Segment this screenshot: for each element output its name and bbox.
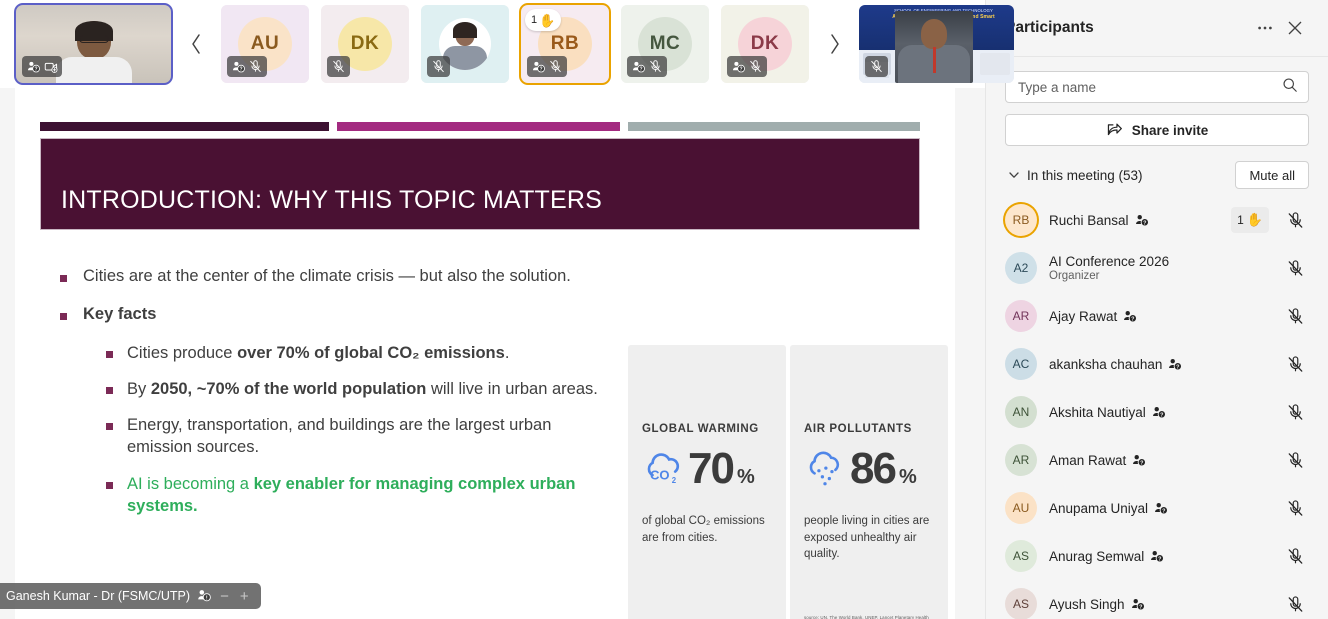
participant-name-text: Akshita Nautiyal bbox=[1049, 405, 1146, 420]
mute-all-button[interactable]: Mute all bbox=[1235, 161, 1309, 189]
bullet-marker-icon bbox=[60, 313, 67, 320]
people-badge-icon: ? bbox=[1123, 309, 1137, 323]
participant-avatar: AR bbox=[1005, 444, 1037, 476]
tile-status-badges: ? bbox=[22, 56, 62, 77]
participant-name-text: akanksha chauhan bbox=[1049, 357, 1162, 372]
svg-text:?: ? bbox=[1176, 364, 1179, 370]
participant-avatar: RB bbox=[1005, 204, 1037, 236]
share-invite-button[interactable]: Share invite bbox=[1005, 114, 1309, 146]
participant-row[interactable]: ARAman Rawat? bbox=[1005, 436, 1309, 484]
rule-dark bbox=[40, 122, 329, 131]
slide-bullets: Cities are at the center of the climate … bbox=[60, 266, 620, 531]
participant-filmstrip: ?AU?DKRB1✋?MC?DK?SCHOOL OF ENGINEERING A… bbox=[0, 0, 985, 88]
sub-bullet-item: By 2050, ~70% of the world population wi… bbox=[106, 378, 620, 400]
sub-bullet-text: By 2050, ~70% of the world population wi… bbox=[127, 378, 598, 400]
participant-name-text: Anurag Semwal bbox=[1049, 549, 1144, 564]
participant-name-text: AI Conference 2026 bbox=[1049, 254, 1169, 269]
people-badge-icon: ? bbox=[1152, 405, 1166, 419]
mic-off-icon[interactable] bbox=[1281, 404, 1309, 421]
sub-bullet-post: . bbox=[505, 344, 510, 362]
svg-text:?: ? bbox=[1158, 556, 1161, 562]
participant-row[interactable]: ARAjay Rawat? bbox=[1005, 292, 1309, 340]
participant-row[interactable]: RBRuchi Bansal?1✋ bbox=[1005, 196, 1309, 244]
filmstrip-next-arrow[interactable] bbox=[821, 5, 847, 83]
self-name-pill: Ganesh Kumar - Dr (FSMC/UTP) ! − + bbox=[0, 583, 261, 609]
people-badge-icon: ? bbox=[232, 60, 245, 73]
participant-avatar: AC bbox=[1005, 348, 1037, 380]
participants-panel: Participants bbox=[985, 0, 1328, 619]
panel-title: Participants bbox=[1005, 19, 1250, 37]
participant-avatar: AR bbox=[1005, 300, 1037, 332]
participant-name: Ruchi Bansal? bbox=[1049, 213, 1219, 228]
raised-hand-icon: ✋ bbox=[1247, 212, 1263, 228]
participant-name-text: Anupama Uniyal bbox=[1049, 501, 1148, 516]
mic-off-icon[interactable] bbox=[1281, 500, 1309, 517]
people-badge-icon: ? bbox=[1168, 357, 1182, 371]
participant-row[interactable]: ACakanksha chauhan? bbox=[1005, 340, 1309, 388]
cloud-co2-icon: CO 2 bbox=[642, 449, 684, 489]
tile-status-badges: ? bbox=[527, 56, 567, 77]
people-badge-icon: ? bbox=[532, 60, 545, 73]
mic-off-icon[interactable] bbox=[1281, 452, 1309, 469]
raised-hand-icon: ✋ bbox=[539, 14, 555, 27]
participant-row[interactable]: ANAkshita Nautiyal? bbox=[1005, 388, 1309, 436]
participant-avatar: AN bbox=[1005, 396, 1037, 428]
people-badge-icon: ? bbox=[732, 60, 745, 73]
section-label: In this meeting (53) bbox=[1023, 168, 1235, 183]
card-source: source: UN, The World Bank, UNEP, Lancet… bbox=[804, 615, 940, 619]
sub-bullet-item-highlight: AI is becoming a key enabler for managin… bbox=[106, 473, 620, 518]
mic-off-icon[interactable] bbox=[1281, 548, 1309, 565]
mic-off-icon[interactable] bbox=[1281, 260, 1309, 277]
raised-hand-count: 1 bbox=[1237, 213, 1244, 227]
sub-bullet-post: will live in urban areas. bbox=[426, 380, 598, 398]
mic-off-icon[interactable] bbox=[249, 60, 262, 73]
rule-gray bbox=[628, 122, 920, 131]
participant-info: AI Conference 2026Organizer bbox=[1049, 254, 1269, 282]
slide-title-bar: INTRODUCTION: WHY THIS TOPIC MATTERS bbox=[40, 138, 920, 230]
participant-name-text: Ayush Singh bbox=[1049, 597, 1125, 612]
mic-off-icon[interactable] bbox=[870, 60, 883, 73]
raised-hand-badge[interactable]: 1✋ bbox=[1231, 207, 1269, 233]
zoom-out-button[interactable]: − bbox=[218, 588, 231, 605]
filmstrip-tile-dk[interactable]: DK bbox=[321, 5, 409, 83]
participant-name-text: Aman Rawat bbox=[1049, 453, 1126, 468]
sub-bullet-item: Energy, transportation, and buildings ar… bbox=[106, 414, 620, 459]
cloud-particles-icon bbox=[804, 449, 846, 489]
svg-text:?: ? bbox=[1139, 604, 1142, 610]
bullet-marker-icon bbox=[60, 275, 67, 282]
participant-row[interactable]: ASAnurag Semwal? bbox=[1005, 532, 1309, 580]
sub-bullet-pre: Energy, transportation, and buildings ar… bbox=[127, 416, 551, 456]
participant-avatar: A2 bbox=[1005, 252, 1037, 284]
filmstrip-tile-rb[interactable]: RB1✋? bbox=[521, 5, 609, 83]
card-number: 86 bbox=[850, 447, 895, 491]
participant-info: akanksha chauhan? bbox=[1049, 357, 1269, 372]
tile-status-badges bbox=[427, 56, 450, 77]
svg-text:2: 2 bbox=[672, 476, 677, 485]
mic-off-icon[interactable] bbox=[549, 60, 562, 73]
people-badge-icon: ? bbox=[632, 60, 645, 73]
participant-name: Ajay Rawat? bbox=[1049, 309, 1269, 324]
sub-bullet-list: Cities produce over 70% of global CO₂ em… bbox=[106, 342, 620, 518]
participants-list: RBRuchi Bansal?1✋A2AI Conference 2026Org… bbox=[1005, 196, 1309, 619]
mic-off-icon[interactable] bbox=[1281, 356, 1309, 373]
participant-info: Akshita Nautiyal? bbox=[1049, 405, 1269, 420]
bullet-item: Key facts bbox=[60, 304, 620, 326]
mic-off-icon[interactable] bbox=[649, 60, 662, 73]
sub-bullet-text: Energy, transportation, and buildings ar… bbox=[127, 414, 620, 459]
meeting-stage: ?AU?DKRB1✋?MC?DK?SCHOOL OF ENGINEERING A… bbox=[0, 0, 985, 619]
participant-info: Aman Rawat? bbox=[1049, 453, 1269, 468]
participant-name: akanksha chauhan? bbox=[1049, 357, 1269, 372]
svg-text:CO: CO bbox=[650, 467, 670, 482]
close-icon[interactable] bbox=[1280, 13, 1310, 43]
filmstrip-tile-video-banner[interactable]: SCHOOL OF ENGINEERING AND TECHNOLOGYAI f… bbox=[859, 5, 1014, 83]
participant-name: Ayush Singh? bbox=[1049, 597, 1269, 612]
people-badge-icon: ! bbox=[197, 588, 211, 605]
mic-off-icon[interactable] bbox=[432, 60, 445, 73]
slide-infographic-cards: GLOBAL WARMING CO 2 70 % of global CO₂ bbox=[628, 345, 948, 619]
mic-off-icon[interactable] bbox=[749, 60, 762, 73]
filmstrip-tile-au[interactable]: AU? bbox=[221, 5, 309, 83]
participant-name-text: Ajay Rawat bbox=[1049, 309, 1117, 324]
search-input[interactable] bbox=[1018, 80, 1282, 95]
teams-meeting-window: ?AU?DKRB1✋?MC?DK?SCHOOL OF ENGINEERING A… bbox=[0, 0, 1328, 619]
people-badge-icon: ? bbox=[27, 60, 40, 73]
participant-row[interactable]: AUAnupama Uniyal? bbox=[1005, 484, 1309, 532]
tile-status-badges: ? bbox=[627, 56, 667, 77]
bullet-marker-icon bbox=[106, 423, 113, 430]
card-caption: GLOBAL WARMING bbox=[642, 423, 772, 435]
infographic-card-air-pollutants: AIR POLLUTANTS bbox=[790, 345, 948, 619]
filmstrip-prev-arrow[interactable] bbox=[183, 5, 209, 83]
panel-body: Share invite In this meeting (53) Mute a… bbox=[986, 57, 1328, 619]
participant-name-text: Ruchi Bansal bbox=[1049, 213, 1129, 228]
participant-name: Anupama Uniyal? bbox=[1049, 501, 1269, 516]
filmstrip-tile-video[interactable]: ? bbox=[16, 5, 171, 83]
filmstrip-tile-photo[interactable] bbox=[421, 5, 509, 83]
card-percent-sign: % bbox=[899, 466, 917, 489]
svg-text:?: ? bbox=[1143, 220, 1146, 226]
card-caption: AIR POLLUTANTS bbox=[804, 423, 934, 435]
people-badge-icon: ? bbox=[1154, 501, 1168, 515]
more-options-icon[interactable] bbox=[1250, 13, 1280, 43]
sub-bullet-text: Cities produce over 70% of global CO₂ em… bbox=[127, 342, 509, 364]
filmstrip-tile-mc[interactable]: MC? bbox=[621, 5, 709, 83]
svg-text:?: ? bbox=[540, 67, 543, 73]
svg-text:?: ? bbox=[35, 67, 38, 73]
bullet-marker-icon bbox=[106, 482, 113, 489]
bullet-item: Cities are at the center of the climate … bbox=[60, 266, 620, 288]
slide-top-rules bbox=[40, 122, 920, 131]
svg-text:?: ? bbox=[640, 67, 643, 73]
self-name-label: Ganesh Kumar - Dr (FSMC/UTP) bbox=[6, 589, 190, 603]
share-invite-label: Share invite bbox=[1132, 123, 1209, 138]
sub-bullet-bold: 2050, ~70% of the world population bbox=[151, 380, 427, 398]
svg-text:?: ? bbox=[1160, 412, 1163, 418]
card-stat-row: 86 % bbox=[804, 447, 934, 491]
sub-bullet-text: AI is becoming a key enabler for managin… bbox=[127, 473, 620, 518]
bullet-marker-icon bbox=[106, 351, 113, 358]
search-box[interactable] bbox=[1005, 71, 1309, 103]
participant-info: Anupama Uniyal? bbox=[1049, 501, 1269, 516]
tile-status-badges bbox=[865, 56, 888, 77]
sub-bullet-pre: AI is becoming a bbox=[127, 475, 254, 493]
participant-info: Anurag Semwal? bbox=[1049, 549, 1269, 564]
section-header-in-this-meeting: In this meeting (53) Mute all bbox=[1005, 160, 1309, 190]
rule-magenta bbox=[337, 122, 620, 131]
participant-avatar: AU bbox=[1005, 492, 1037, 524]
participant-role: Organizer bbox=[1049, 270, 1269, 282]
card-number: 70 bbox=[688, 447, 733, 491]
participant-info: Ruchi Bansal? bbox=[1049, 213, 1219, 228]
participant-row[interactable]: ASAyush Singh? bbox=[1005, 580, 1309, 619]
svg-text:?: ? bbox=[740, 67, 743, 73]
participant-name: AI Conference 2026 bbox=[1049, 254, 1269, 269]
share-icon bbox=[1106, 120, 1123, 140]
people-badge-icon: ? bbox=[1150, 549, 1164, 563]
shared-slide: INTRODUCTION: WHY THIS TOPIC MATTERS Cit… bbox=[15, 88, 955, 619]
bullet-text: Key facts bbox=[83, 304, 156, 326]
participant-name: Anurag Semwal? bbox=[1049, 549, 1269, 564]
people-badge-icon: ? bbox=[1131, 597, 1145, 611]
participant-info: Ayush Singh? bbox=[1049, 597, 1269, 612]
mic-off-icon[interactable] bbox=[1281, 212, 1309, 229]
raised-hand-count: 1 bbox=[531, 14, 537, 26]
sub-bullet-pre: Cities produce bbox=[127, 344, 237, 362]
participant-avatar: AS bbox=[1005, 588, 1037, 619]
tile-status-badges: ? bbox=[727, 56, 767, 77]
video-pin-icon[interactable] bbox=[44, 60, 57, 73]
zoom-in-button[interactable]: + bbox=[238, 588, 251, 605]
tile-status-badges bbox=[327, 56, 350, 77]
participant-info: Ajay Rawat? bbox=[1049, 309, 1269, 324]
svg-text:?: ? bbox=[1162, 508, 1165, 514]
bullet-marker-icon bbox=[106, 387, 113, 394]
sub-bullet-pre: By bbox=[127, 380, 151, 398]
svg-text:?: ? bbox=[1140, 460, 1143, 466]
participant-avatar: AS bbox=[1005, 540, 1037, 572]
card-description: of global CO₂ emissions are from cities. bbox=[642, 513, 772, 546]
chevron-down-icon[interactable] bbox=[1005, 169, 1023, 181]
sub-bullet-item: Cities produce over 70% of global CO₂ em… bbox=[106, 342, 620, 364]
svg-text:?: ? bbox=[240, 67, 243, 73]
infographic-card-global-warming: GLOBAL WARMING CO 2 70 % of global CO₂ bbox=[628, 345, 786, 619]
mic-off-icon[interactable] bbox=[332, 60, 345, 73]
card-description: people living in cities are exposed unhe… bbox=[804, 513, 934, 563]
svg-text:?: ? bbox=[1131, 316, 1134, 322]
panel-header: Participants bbox=[986, 0, 1328, 57]
card-percent-sign: % bbox=[737, 466, 755, 489]
mic-off-icon[interactable] bbox=[1281, 596, 1309, 613]
search-icon bbox=[1282, 77, 1298, 98]
tile-status-badges: ? bbox=[227, 56, 267, 77]
bullet-text: Cities are at the center of the climate … bbox=[83, 266, 571, 288]
card-stat-row: CO 2 70 % bbox=[642, 447, 772, 491]
participant-row[interactable]: A2AI Conference 2026Organizer bbox=[1005, 244, 1309, 292]
sub-bullet-bold: over 70% of global CO₂ emissions bbox=[237, 344, 505, 362]
mic-off-icon[interactable] bbox=[1281, 308, 1309, 325]
people-badge-icon: ? bbox=[1132, 453, 1146, 467]
participant-name: Akshita Nautiyal? bbox=[1049, 405, 1269, 420]
participant-name: Aman Rawat? bbox=[1049, 453, 1269, 468]
svg-text:!: ! bbox=[206, 595, 208, 601]
slide-title: INTRODUCTION: WHY THIS TOPIC MATTERS bbox=[41, 186, 602, 229]
filmstrip-tile-dk[interactable]: DK? bbox=[721, 5, 809, 83]
raised-hand-badge: 1✋ bbox=[525, 9, 561, 31]
people-badge-icon: ? bbox=[1135, 213, 1149, 227]
